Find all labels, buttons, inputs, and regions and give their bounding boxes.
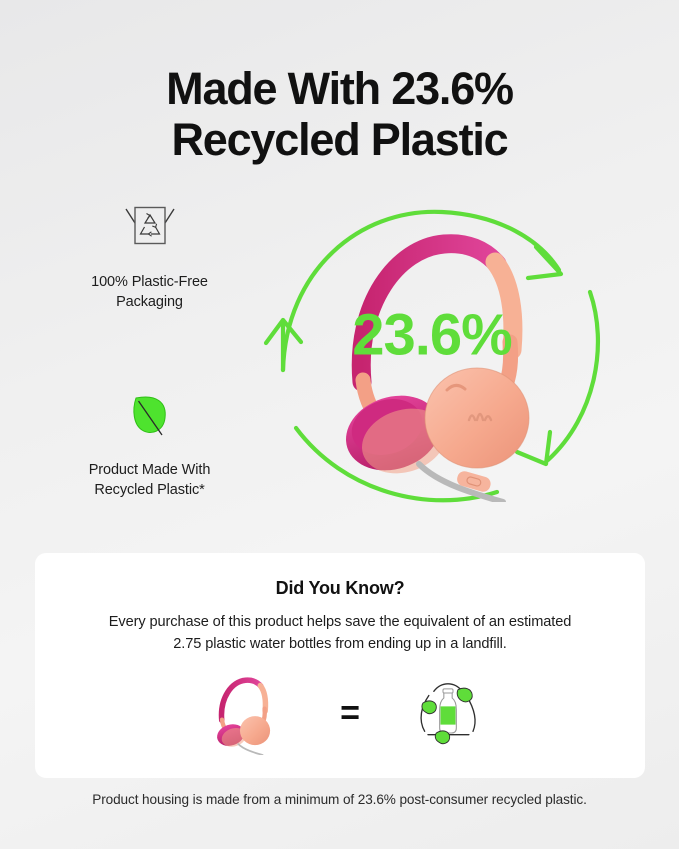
card-body: Every purchase of this product helps sav… <box>35 599 645 655</box>
headline-line-1: Made With 23.6% <box>70 64 609 115</box>
recycle-cycle-graphic: 23.6% <box>252 192 612 522</box>
feature-label: 100% Plastic-Free Packaging <box>22 272 277 312</box>
feature-label-line-2: Packaging <box>116 294 183 310</box>
footer-disclaimer: Product housing is made from a minimum o… <box>0 792 679 807</box>
hero-section: 100% Plastic-Free Packaging Product Made… <box>0 194 679 524</box>
recycle-box-icon <box>22 198 277 260</box>
page-title: Made With 23.6% Recycled Plastic <box>0 0 679 166</box>
headphones-icon <box>190 671 294 755</box>
feature-label-line-2: Recycled Plastic* <box>94 482 204 498</box>
headline-line-2: Recycled Plastic <box>70 115 609 166</box>
card-body-line-1: Every purchase of this product helps sav… <box>109 614 505 630</box>
feature-label-line-1: Product Made With <box>89 462 211 478</box>
did-you-know-card: Did You Know? Every purchase of this pro… <box>35 553 645 778</box>
feature-label: Product Made With Recycled Plastic* <box>22 460 277 500</box>
leaf-icon <box>22 386 277 448</box>
equivalence-row: = <box>35 671 645 755</box>
feature-label-line-1: 100% Plastic-Free <box>91 274 208 290</box>
feature-list: 100% Plastic-Free Packaging Product Made… <box>22 198 277 500</box>
feature-plastic-free-packaging: 100% Plastic-Free Packaging <box>22 198 277 312</box>
recycled-bottle-icon <box>406 673 490 753</box>
card-title: Did You Know? <box>35 553 645 599</box>
percent-callout: 23.6% <box>352 301 511 368</box>
equals-sign: = <box>340 696 360 730</box>
feature-recycled-plastic: Product Made With Recycled Plastic* <box>22 386 277 500</box>
